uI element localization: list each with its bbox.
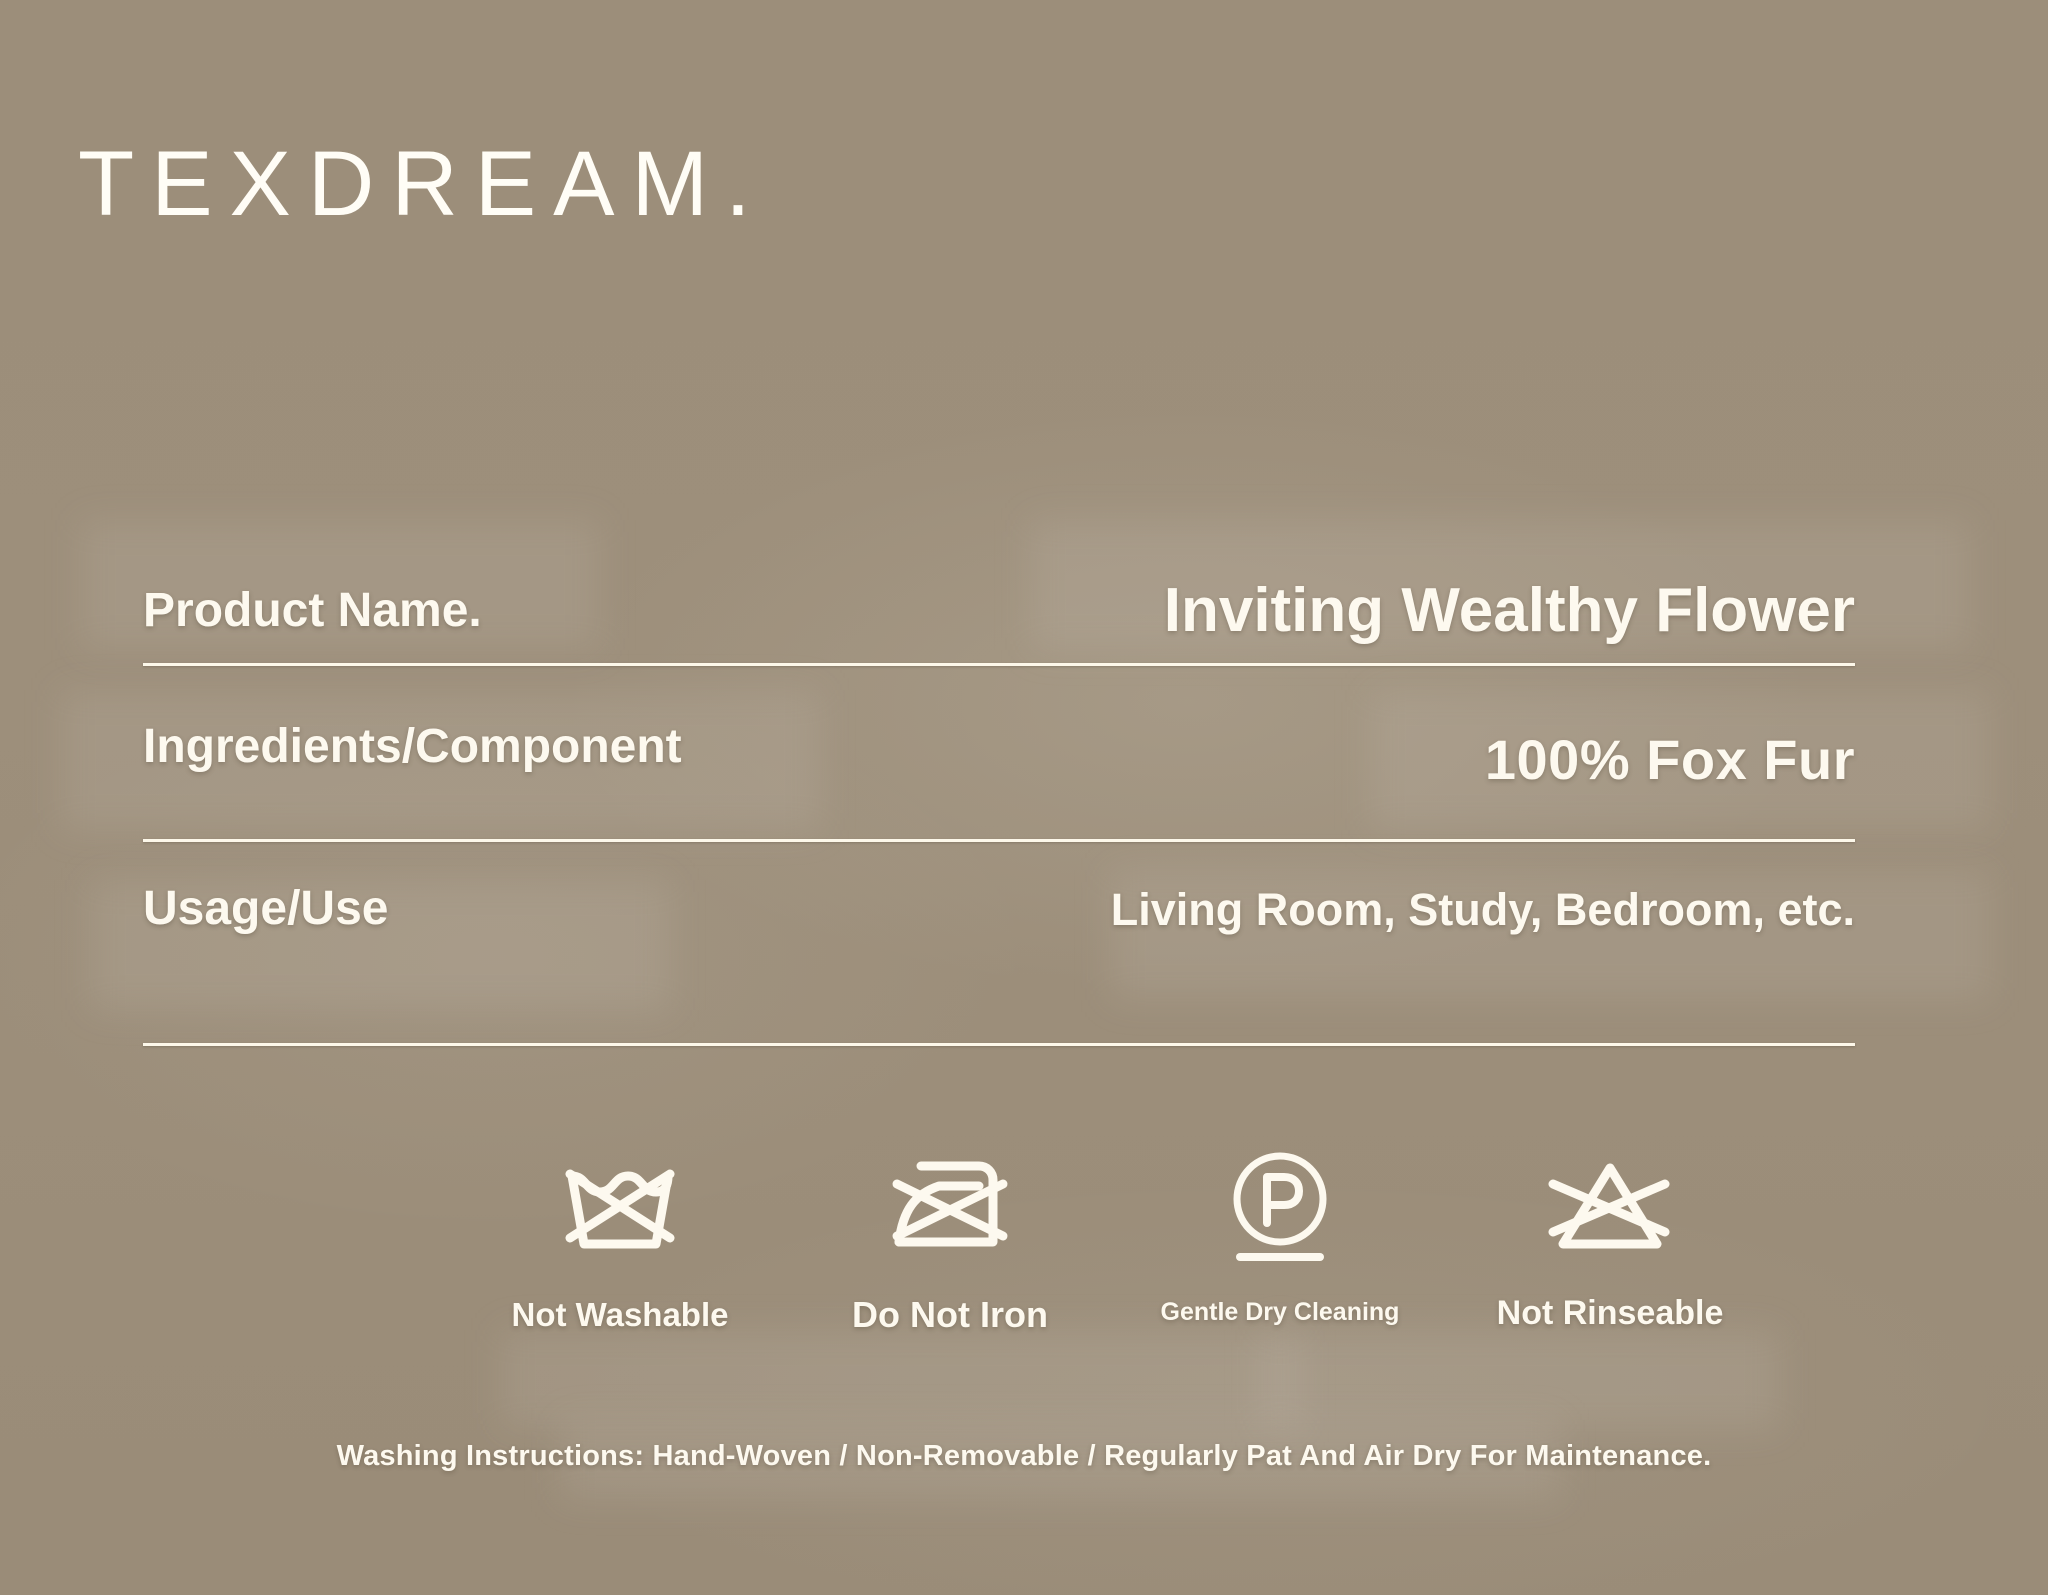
table-row: Usage/Use Living Room, Study, Bedroom, e… xyxy=(143,842,1855,1046)
care-item-do-not-iron: Do Not Iron xyxy=(800,1132,1100,1336)
care-item-not-rinseable: Not Rinseable xyxy=(1460,1132,1760,1333)
no-wash-icon xyxy=(556,1132,684,1282)
spec-value-usage: Living Room, Study, Bedroom, etc. xyxy=(1111,884,1855,1046)
brand-logo: TEXDREAM. xyxy=(78,138,768,230)
spec-label-ingredients: Ingredients/Component xyxy=(143,719,682,842)
background-patch xyxy=(500,1330,1300,1430)
spec-value-product-name: Inviting Wealthy Flower xyxy=(1164,575,1855,666)
table-row: Ingredients/Component 100% Fox Fur xyxy=(143,666,1855,842)
no-bleach-icon xyxy=(1543,1132,1677,1282)
care-caption: Gentle Dry Cleaning xyxy=(1161,1298,1400,1327)
spec-value-ingredients: 100% Fox Fur xyxy=(1485,727,1855,842)
care-label-card: TEXDREAM. Product Name. Inviting Wealthy… xyxy=(0,0,2048,1595)
dry-clean-p-icon xyxy=(1218,1132,1342,1282)
washing-instructions-note: Washing Instructions: Hand-Woven / Non-R… xyxy=(0,1440,2048,1473)
spec-label-product-name: Product Name. xyxy=(143,583,482,666)
background-patch xyxy=(1260,1330,1780,1430)
care-symbol-strip: Not Washable Do Not Iron xyxy=(470,1132,1760,1336)
care-caption: Do Not Iron xyxy=(852,1294,1048,1336)
care-caption: Not Washable xyxy=(512,1296,729,1334)
care-item-gentle-dry-cleaning: Gentle Dry Cleaning xyxy=(1130,1132,1430,1327)
table-row: Product Name. Inviting Wealthy Flower xyxy=(143,540,1855,666)
spec-label-usage: Usage/Use xyxy=(143,881,388,1046)
no-iron-icon xyxy=(885,1132,1015,1282)
care-caption: Not Rinseable xyxy=(1497,1294,1724,1333)
spec-table: Product Name. Inviting Wealthy Flower In… xyxy=(143,540,1855,1046)
row-divider xyxy=(143,1043,1855,1046)
care-item-not-washable: Not Washable xyxy=(470,1132,770,1334)
